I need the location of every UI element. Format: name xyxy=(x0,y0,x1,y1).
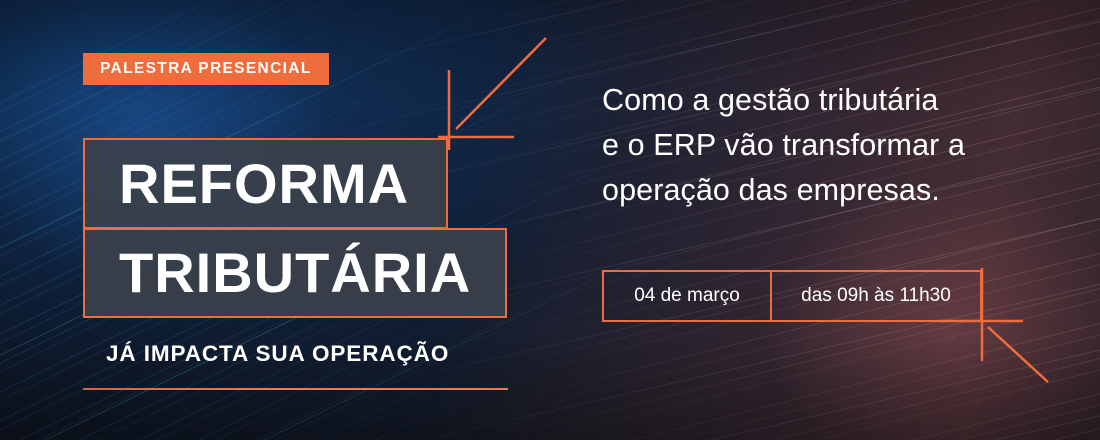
headline: Como a gestão tributária e o ERP vão tra… xyxy=(602,78,1052,213)
subtitle: JÁ IMPACTA SUA OPERAÇÃO xyxy=(106,341,449,367)
title-box-line-2: TRIBUTÁRIA xyxy=(83,228,507,318)
headline-line-2: e o ERP vão transformar a xyxy=(602,123,1052,168)
headline-line-3: operação das empresas. xyxy=(602,168,1052,213)
title-line-2: TRIBUTÁRIA xyxy=(85,245,471,301)
badge-label: PALESTRA PRESENCIAL xyxy=(100,60,312,78)
title-box-line-1: REFORMA xyxy=(83,138,448,229)
event-info-box: 04 de março das 09h às 11h30 xyxy=(602,270,982,322)
headline-line-1: Como a gestão tributária xyxy=(602,78,1052,123)
event-date: 04 de março xyxy=(604,272,770,320)
event-banner: PALESTRA PRESENCIAL REFORMA TRIBUTÁRIA J… xyxy=(0,0,1100,440)
title-line-1: REFORMA xyxy=(85,156,409,212)
subtitle-rule xyxy=(83,388,508,390)
badge-palestra-presencial: PALESTRA PRESENCIAL xyxy=(83,53,329,85)
event-time: das 09h às 11h30 xyxy=(772,272,980,320)
